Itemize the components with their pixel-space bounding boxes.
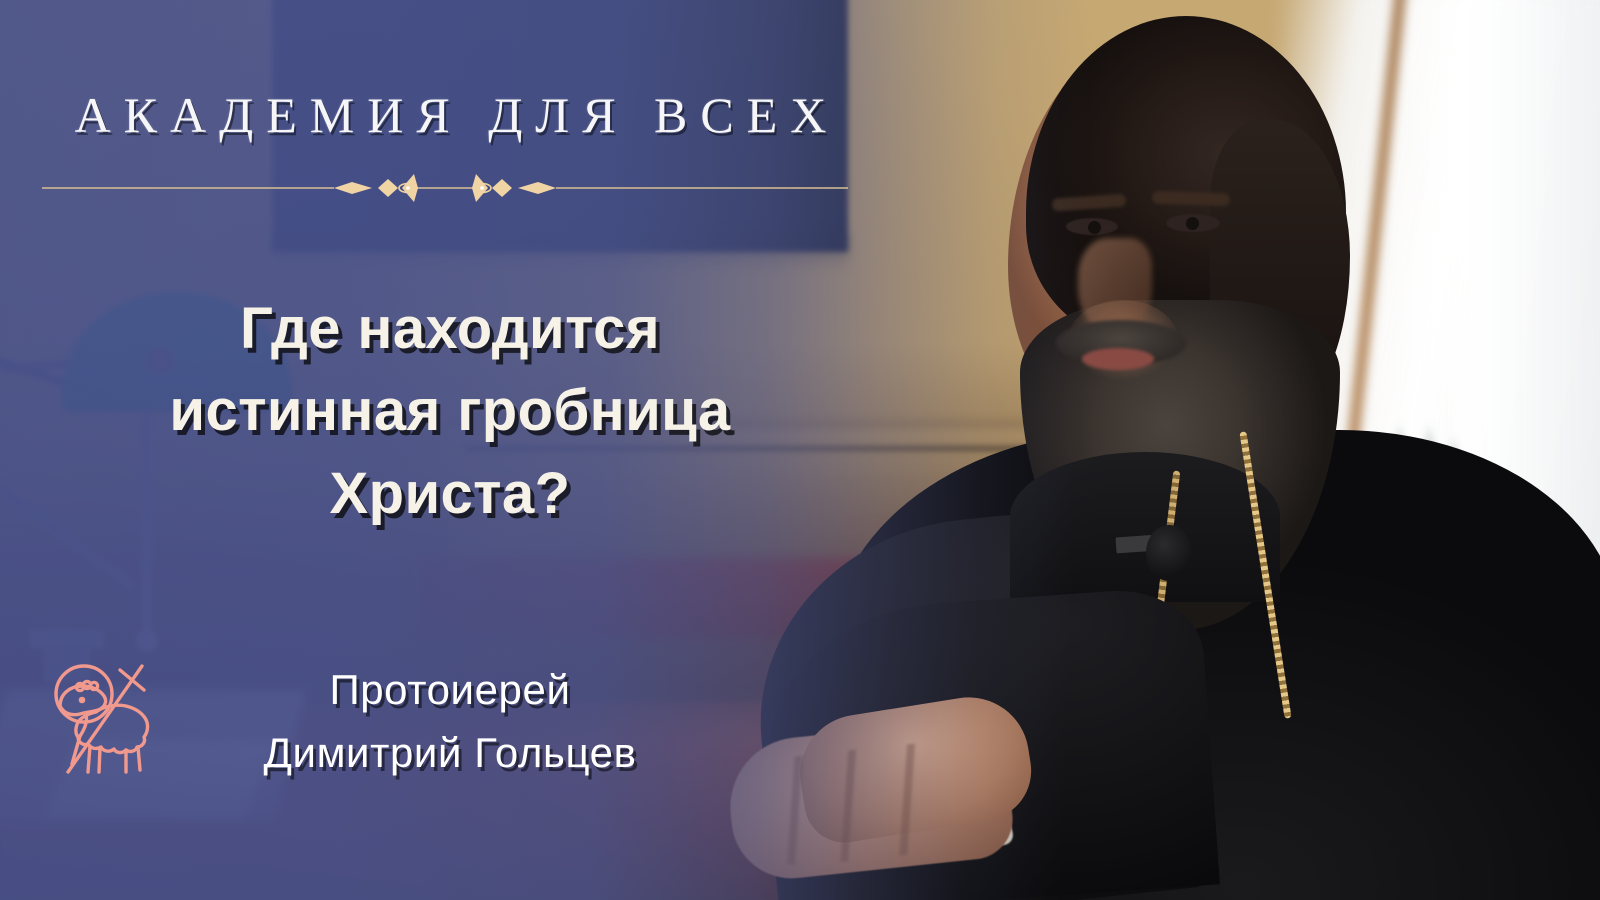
headline-line-3: Христа?: [40, 453, 860, 535]
video-thumbnail: АКАДЕМИЯ ДЛЯ ВСЕХ: [0, 0, 1600, 900]
ornament-divider: [42, 174, 848, 202]
speaker-title: Протоиерей: [40, 658, 860, 721]
channel-title: АКАДЕМИЯ ДЛЯ ВСЕХ: [52, 86, 862, 144]
ornament-icon: [42, 174, 848, 202]
brand-block: АКАДЕМИЯ ДЛЯ ВСЕХ: [42, 86, 862, 202]
lamb-of-god-icon: [46, 650, 162, 782]
headline-line-2: истинная гробница: [40, 370, 860, 452]
speaker-fullname: Димитрий Гольцев: [40, 721, 860, 784]
headline: Где находится истинная гробница Христа?: [40, 288, 860, 535]
headline-line-1: Где находится: [40, 288, 860, 370]
lamb-logo: [46, 650, 162, 782]
speaker-name: Протоиерей Димитрий Гольцев: [40, 658, 860, 784]
